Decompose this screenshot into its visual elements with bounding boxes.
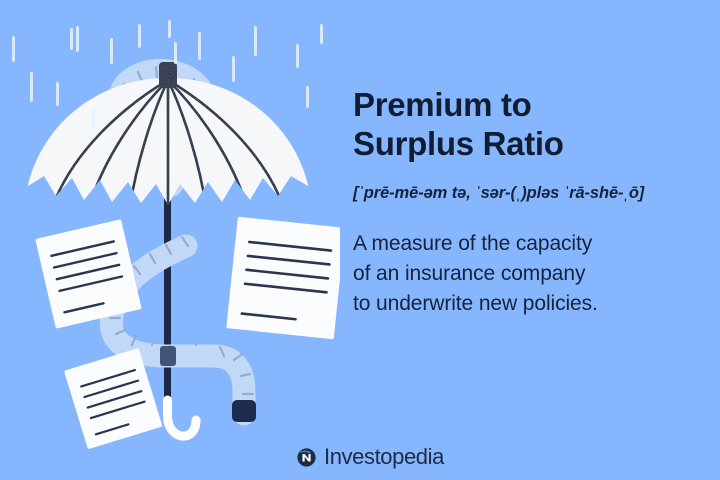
umbrella-handle — [168, 400, 197, 436]
raindrop-icon — [92, 108, 95, 130]
raindrop-icon — [56, 82, 59, 106]
raindrop-icon — [168, 20, 171, 38]
raindrop-icon — [110, 38, 113, 64]
raindrop-icon — [174, 42, 177, 64]
investopedia-logo: Investopedia — [296, 446, 444, 468]
raindrop-icon — [12, 36, 15, 62]
raindrop-icon — [296, 44, 299, 68]
tape-tip — [232, 400, 256, 422]
raindrop-icon — [30, 72, 33, 102]
illustration — [0, 0, 340, 480]
raindrop-icon — [320, 24, 323, 44]
raindrop-icon — [198, 32, 201, 60]
investopedia-logo-icon — [296, 447, 317, 468]
raindrop-icon — [254, 26, 257, 56]
document-icon-left-top — [35, 219, 141, 328]
infographic-card: Premium to Surplus Ratio [ˈprē-mē-əm tə,… — [0, 0, 720, 480]
raindrop-icon — [138, 24, 141, 48]
raindrop-icon — [76, 26, 79, 52]
illustration-svg — [0, 0, 340, 480]
raindrop-icon — [232, 56, 235, 82]
page-title: Premium to Surplus Ratio — [353, 86, 683, 164]
definition-text: A measure of the capacity of an insuranc… — [353, 229, 683, 318]
umbrella-ferrule — [159, 62, 177, 88]
text-column: Premium to Surplus Ratio [ˈprē-mē-əm tə,… — [353, 86, 683, 318]
brand-name: Investopedia — [324, 446, 444, 468]
tape-dark-segment — [160, 346, 176, 366]
pronunciation-text: [ˈprē-mē-əm tə, ˈsər-(ˌ)pləs ˈrā-shē-ˌō] — [353, 184, 683, 203]
raindrop-icon — [306, 86, 309, 108]
umbrella-icon — [28, 62, 308, 207]
document-icon-right — [226, 217, 340, 340]
raindrop-icon — [70, 28, 73, 50]
